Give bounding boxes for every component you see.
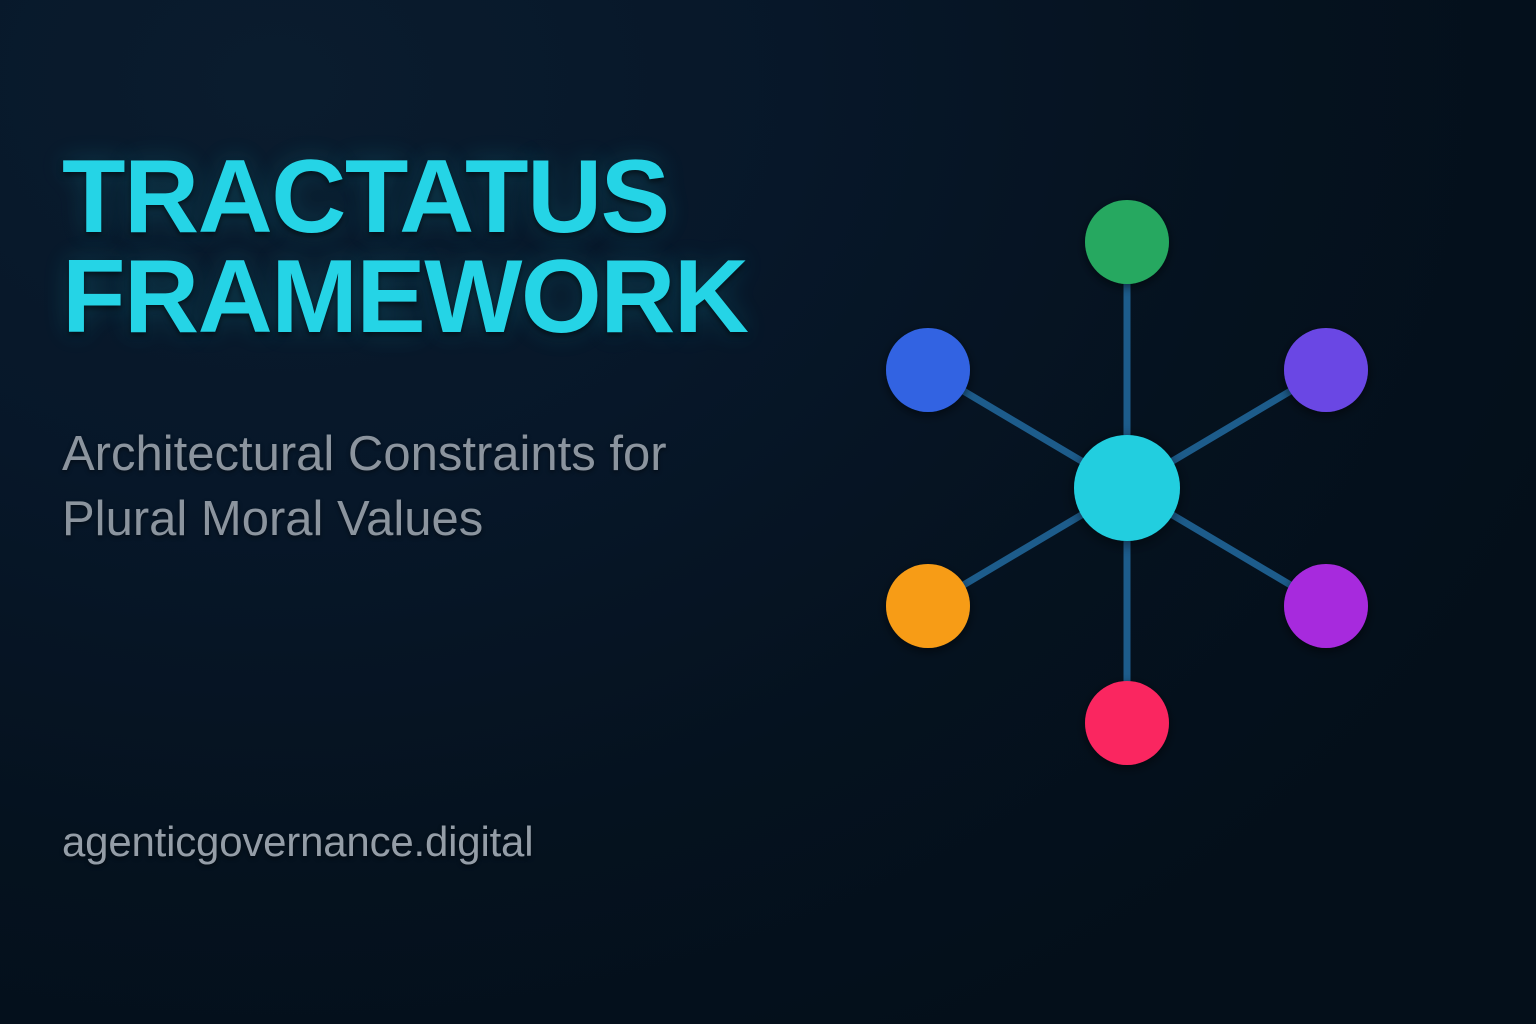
spoke-node-purple [1171, 514, 1292, 586]
node-blue[interactable] [886, 328, 970, 412]
node-purple[interactable] [1284, 564, 1368, 648]
node-indigo[interactable] [1284, 328, 1368, 412]
spoke-node-blue [962, 390, 1083, 462]
poster-canvas: TRACTATUS FRAMEWORK Architectural Constr… [0, 0, 1536, 1024]
node-graph-svg [830, 140, 1450, 820]
spoke-node-indigo [1171, 390, 1292, 462]
node-graph-diagram [830, 140, 1450, 820]
hub-node-group [1074, 435, 1180, 541]
node-orange[interactable] [886, 564, 970, 648]
website-url: agenticgovernance.digital [62, 818, 533, 866]
node-green[interactable] [1085, 200, 1169, 284]
node-pink[interactable] [1085, 681, 1169, 765]
hub-node[interactable] [1074, 435, 1180, 541]
page-title: TRACTATUS FRAMEWORK [62, 148, 862, 348]
text-column: TRACTATUS FRAMEWORK Architectural Constr… [62, 0, 882, 1024]
page-subtitle: Architectural Constraints for Plural Mor… [62, 422, 802, 551]
spoke-node-orange [962, 514, 1083, 586]
